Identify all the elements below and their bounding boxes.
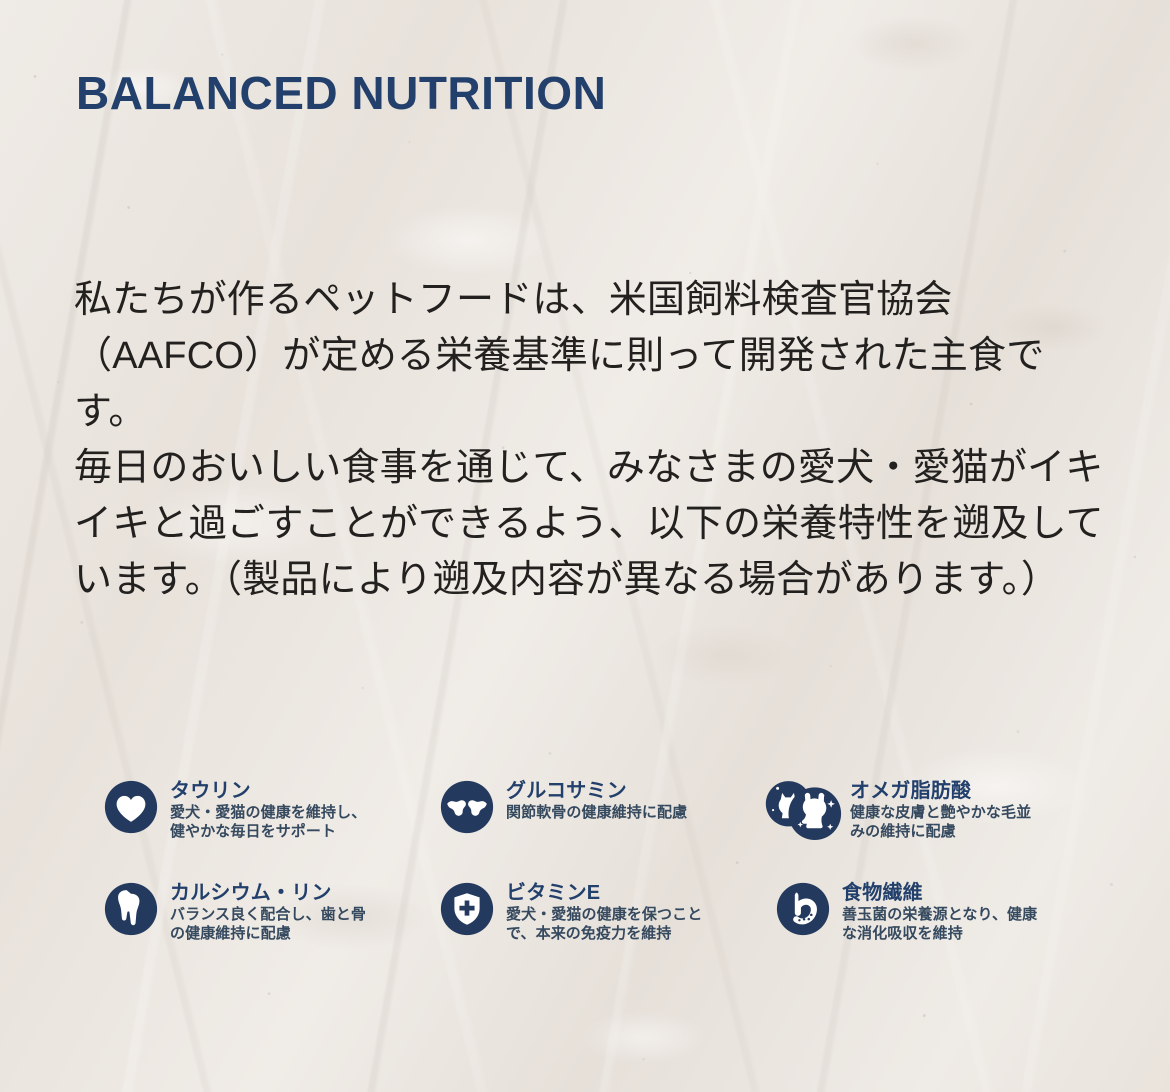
feature-text: タウリン 愛犬・愛猫の健康を維持し、 健やかな毎日をサポート (170, 778, 366, 841)
feature-description: 愛犬・愛猫の健康を維持し、 健やかな毎日をサポート (170, 803, 366, 841)
stomach-fiber-icon (776, 882, 830, 936)
feature-title: ビタミンE (506, 882, 600, 904)
nutrition-page: BALANCED NUTRITION 私たちが作るペットフードは、米国飼料検査官… (0, 0, 1170, 1092)
shield-plus-icon (440, 882, 494, 936)
intro-paragraph-1: 私たちが作るペットフードは、米国飼料検査官協会（AAFCO）が定める栄養基準に則… (74, 272, 1104, 440)
feature-title: オメガ脂肪酸 (850, 780, 971, 802)
feature-title: カルシウム・リン (170, 882, 332, 904)
feature-description: 善玉菌の栄養源となり、健康 な消化吸収を維持 (842, 905, 1037, 943)
feature-title: タウリン (170, 780, 251, 802)
feature-item-dietary-fiber: 食物繊維 善玉菌の栄養源となり、健康 な消化吸収を維持 (776, 880, 1094, 978)
feature-description: 愛犬・愛猫の健康を保つこと で、本来の免疫力を維持 (506, 905, 702, 943)
joint-bone-icon (440, 780, 494, 834)
tooth-icon (104, 882, 158, 936)
feature-item-calcium-phosphorus: カルシウム・リン バランス良く配合し、歯と骨 の健康維持に配慮 (104, 880, 434, 978)
feature-item-glucosamine: グルコサミン 関節軟骨の健康維持に配慮 (440, 778, 774, 878)
nutrition-feature-grid: タウリン 愛犬・愛猫の健康を維持し、 健やかな毎日をサポート グルコサミン 関節 (104, 778, 1104, 978)
feature-item-vitamin-e: ビタミンE 愛犬・愛猫の健康を保つこと で、本来の免疫力を維持 (440, 880, 774, 978)
feature-item-omega-fatty-acids: オメガ脂肪酸 健康な皮膚と艶やかな毛並 みの維持に配慮 (776, 778, 1094, 878)
intro-copy: 私たちが作るペットフードは、米国飼料検査官協会（AAFCO）が定める栄養基準に則… (74, 272, 1104, 608)
dog-cat-sparkle-icon (764, 780, 842, 842)
feature-description: 健康な皮膚と艶やかな毛並 みの維持に配慮 (850, 803, 1031, 841)
feature-title: グルコサミン (506, 780, 627, 802)
feature-text: 食物繊維 善玉菌の栄養源となり、健康 な消化吸収を維持 (842, 880, 1037, 943)
page-title: BALANCED NUTRITION (76, 66, 606, 120)
intro-paragraph-2: 毎日のおいしい食事を通じて、みなさまの愛犬・愛猫がイキイキと過ごすことができるよ… (74, 440, 1104, 608)
feature-text: カルシウム・リン バランス良く配合し、歯と骨 の健康維持に配慮 (170, 880, 366, 943)
feature-text: ビタミンE 愛犬・愛猫の健康を保つこと で、本来の免疫力を維持 (506, 880, 702, 943)
feature-item-taurine: タウリン 愛犬・愛猫の健康を維持し、 健やかな毎日をサポート (104, 778, 434, 878)
feature-text: グルコサミン 関節軟骨の健康維持に配慮 (506, 778, 687, 822)
feature-description: 関節軟骨の健康維持に配慮 (506, 803, 687, 822)
feature-title: 食物繊維 (842, 882, 923, 904)
feature-text: オメガ脂肪酸 健康な皮膚と艶やかな毛並 みの維持に配慮 (850, 778, 1031, 841)
heart-icon (104, 780, 158, 834)
feature-description: バランス良く配合し、歯と骨 の健康維持に配慮 (170, 905, 366, 943)
